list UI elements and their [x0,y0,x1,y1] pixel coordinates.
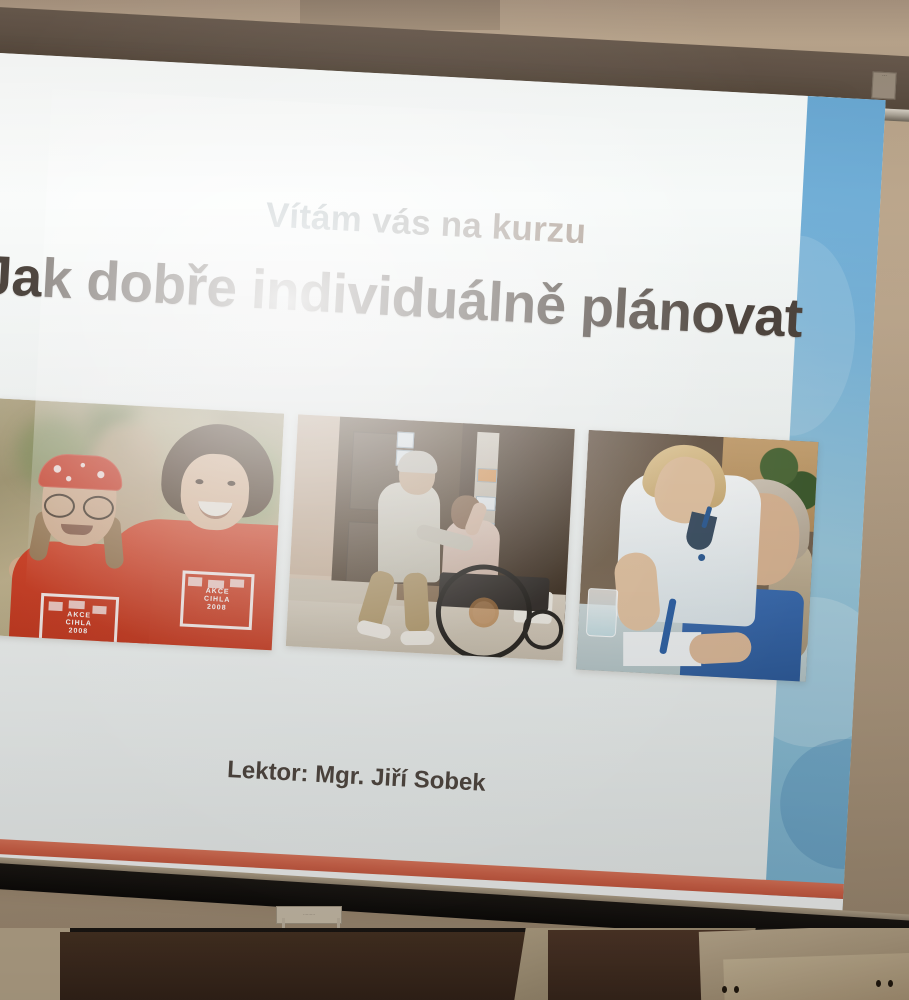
classroom-photo-scene: ··· Vítám vás na kurzu Jak dobře individ… [0,0,909,1000]
logo-line-1: AKCE [67,611,91,619]
logo-line-2: CIHLA [65,619,92,627]
cabinet-keyhole-2[interactable] [734,986,739,993]
cabinet-keyhole-4[interactable] [888,980,893,987]
photo1-right-eye-left [195,479,203,484]
photo-nurse-and-elderly-woman [576,430,819,682]
cabinet-keyhole-3[interactable] [876,980,881,987]
logo2-line-3: 2008 [207,604,227,612]
photo3-water-glass [586,588,619,638]
cabinet-light-drawer [723,953,909,1000]
logo2-line-1: AKCE [206,588,230,596]
cabinet-keyhole-1[interactable] [722,986,727,993]
cabinet-row [0,928,909,1000]
logo-line-3: 2008 [68,627,88,635]
slide-photo-row: AKCE CIHLA 2008 AKCE CIHLA 2008 [0,398,818,681]
photo2-door-sticker-1 [397,432,415,449]
photo-friends-red-shirts: AKCE CIHLA 2008 AKCE CIHLA 2008 [0,398,285,650]
presentation-slide: Vítám vás na kurzu Jak dobře individuáln… [0,52,886,921]
rail-sticker-label: ··· [871,71,896,99]
photo3-elderly-hand [689,632,752,665]
photo1-glasses [44,493,115,517]
photo2-notice-1 [477,468,498,483]
photo1-right-eye-right [227,481,235,486]
photo1-shirt-logo-right: AKCE CIHLA 2008 [180,570,255,630]
photo-wheelchair-assistance [286,414,574,660]
cabinet-dark-panel-left [60,932,540,1000]
photo3-nurse-arm [613,551,662,632]
photo3-nurse-button [698,554,705,561]
logo2-line-2: CIHLA [204,596,231,604]
